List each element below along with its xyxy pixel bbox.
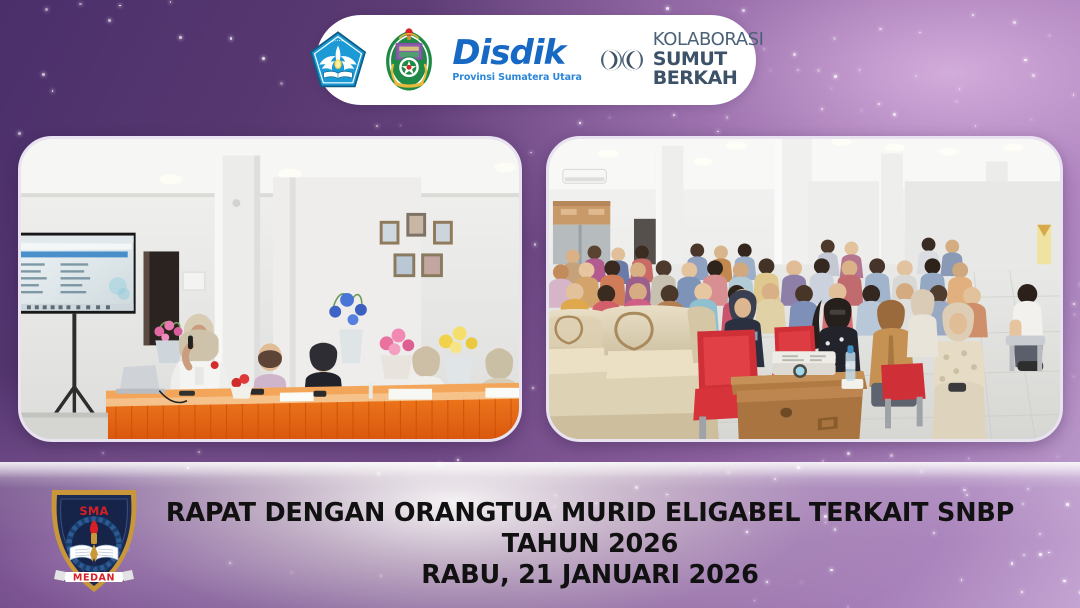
sma-negeri-5-medan-crest: SMA x . MEDAN [42,484,146,596]
double-circle-infinity-icon [598,46,646,74]
tut-wuri-handayani-emblem [308,30,368,90]
event-title-block: RAPAT DENGAN ORANGTUA MURID ELIGABEL TER… [150,498,1030,591]
disdik-lockup: Disdik Provinsi Sumatera Utara [452,37,581,82]
north-sumatra-provincial-emblem [378,27,440,93]
logo-bar: Disdik Provinsi Sumatera Utara KOLABORAS… [316,15,756,105]
kolaborasi-line-2: SUMUT BERKAH [653,50,764,89]
photo-panel-audience [546,136,1063,442]
poster-canvas: Disdik Provinsi Sumatera Utara KOLABORAS… [0,0,1080,608]
footer-light-band-edge [0,462,1080,478]
event-title-line-1: RAPAT DENGAN ORANGTUA MURID ELIGABEL TER… [150,498,1030,560]
event-title-line-2: RABU, 21 JANUARI 2026 [150,560,1030,591]
svg-text:MEDAN: MEDAN [73,573,115,584]
disdik-subtitle: Provinsi Sumatera Utara [452,72,581,83]
kolaborasi-sumut-berkah-lockup: KOLABORASI SUMUT BERKAH [598,31,764,88]
photo-panel-speaker [18,136,522,442]
disdik-wordmark: Disdik [452,37,581,69]
